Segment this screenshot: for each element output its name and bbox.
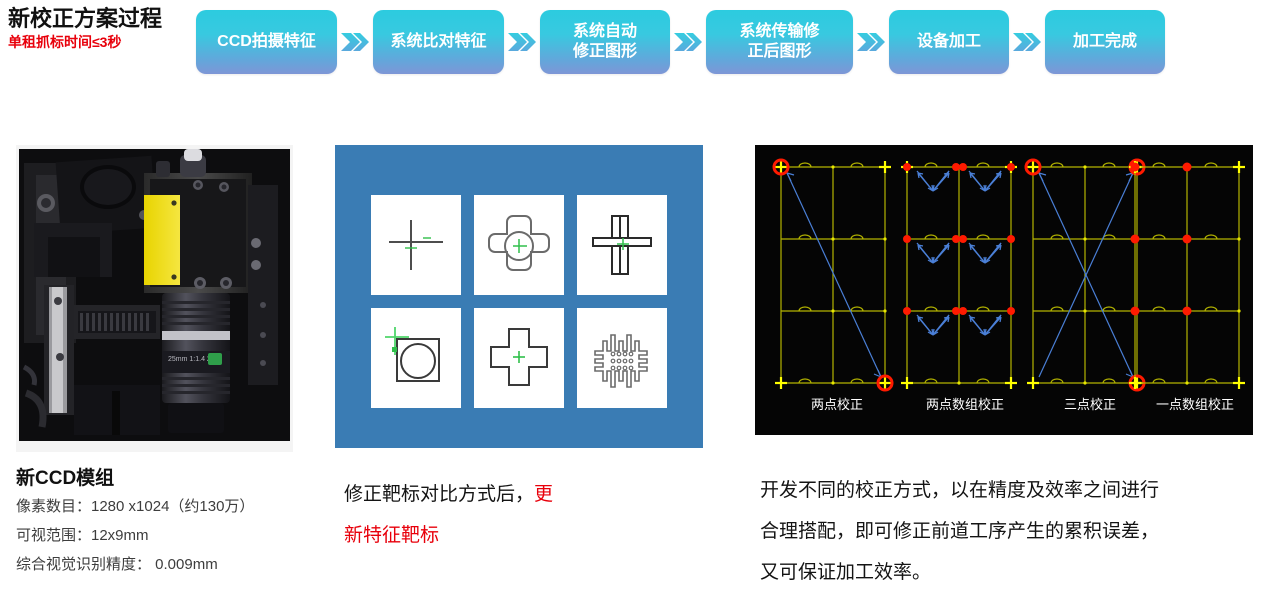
header-section: 新校正方案过程 单租抓标时间≤3秒 CCD拍摄特征 系统比对特征: [0, 0, 1269, 120]
target-caption-line1-red: 更: [534, 484, 553, 505]
flow-step-3[interactable]: 系统自动 修正图形: [540, 10, 670, 74]
page-subtitle: 单租抓标时间≤3秒: [8, 33, 188, 51]
target-marks-panel: [335, 145, 703, 448]
ccd-module-heading: 新CCD模组: [16, 466, 326, 492]
process-flow: CCD拍摄特征 系统比对特征 系统自动 修正图形: [196, 10, 1165, 74]
bold-cross-target: [474, 308, 564, 408]
flow-step-3-line2: 修正图形: [573, 43, 637, 60]
comb-grid-target: [577, 308, 667, 408]
flow-step-1-label: CCD拍摄特征: [217, 32, 316, 52]
target-caption-line1-black: 修正靶标对比方式后，: [344, 484, 534, 505]
thin-cross-target: [371, 195, 461, 295]
flow-step-5[interactable]: 设备加工: [889, 10, 1009, 74]
flow-step-5-label: 设备加工: [917, 32, 981, 52]
calibration-label-3: 一点数组校正: [1156, 397, 1234, 413]
title-block: 新校正方案过程 单租抓标时间≤3秒: [8, 6, 188, 51]
double-chevron-right-icon: [337, 29, 373, 55]
calibration-caption-line2: 合理搭配，即可修正前道工序产生的累积误差，: [760, 511, 1260, 552]
target-caption-line2: 新特征靶标: [344, 515, 724, 556]
middle-caption: 修正靶标对比方式后，更 新特征靶标: [344, 474, 724, 556]
flow-step-3-line1: 系统自动: [573, 23, 637, 40]
circle-cross-target: [474, 195, 564, 295]
flow-step-3-label: 系统自动 修正图形: [573, 22, 637, 62]
target-marks-grid: [371, 195, 667, 408]
double-chevron-right-icon: [853, 29, 889, 55]
double-chevron-right-icon: [1009, 29, 1045, 55]
panels-row: 25mm 1:1.4 2/3: [0, 145, 1269, 455]
ccd-camera-photo: 25mm 1:1.4 2/3: [16, 145, 293, 452]
ccd-spec-fov: 可视范围：12x9mm: [16, 521, 326, 550]
flow-step-4-line1: 系统传输修: [739, 23, 819, 40]
calibration-label-0: 两点校正: [811, 397, 863, 413]
flow-step-6[interactable]: 加工完成: [1045, 10, 1165, 74]
left-caption: 新CCD模组 像素数目：1280 x1024（约130万） 可视范围：12x9m…: [16, 466, 326, 579]
flow-step-6-label: 加工完成: [1073, 32, 1137, 52]
flow-step-2-label: 系统比对特征: [390, 32, 486, 52]
target-caption-line1: 修正靶标对比方式后，更: [344, 474, 724, 515]
double-chevron-right-icon: [504, 29, 540, 55]
flow-step-4[interactable]: 系统传输修 正后图形: [706, 10, 853, 74]
square-circle-target: [371, 308, 461, 408]
right-caption: 开发不同的校正方式，以在精度及效率之间进行 合理搭配，即可修正前道工序产生的累积…: [760, 470, 1260, 593]
calibration-label-1: 两点数组校正: [926, 397, 1004, 413]
calibration-caption-line3: 又可保证加工效率。: [760, 552, 1260, 593]
offset-cross-target: [577, 195, 667, 295]
flow-step-4-line2: 正后图形: [747, 43, 811, 60]
calibration-modes-panel: 两点校正 两点数组校正 三点校正 一点数组校正: [755, 145, 1253, 435]
flow-step-2[interactable]: 系统比对特征: [373, 10, 504, 74]
flow-step-1[interactable]: CCD拍摄特征: [196, 10, 337, 74]
ccd-spec-accuracy: 综合视觉识别精度： 0.009mm: [16, 550, 326, 579]
calibration-caption-line1: 开发不同的校正方式，以在精度及效率之间进行: [760, 470, 1260, 511]
calibration-label-2: 三点校正: [1064, 397, 1116, 413]
ccd-spec-pixels: 像素数目：1280 x1024（约130万）: [16, 492, 326, 521]
flow-step-4-label: 系统传输修 正后图形: [739, 22, 819, 62]
page-title: 新校正方案过程: [8, 6, 188, 32]
double-chevron-right-icon: [670, 29, 706, 55]
